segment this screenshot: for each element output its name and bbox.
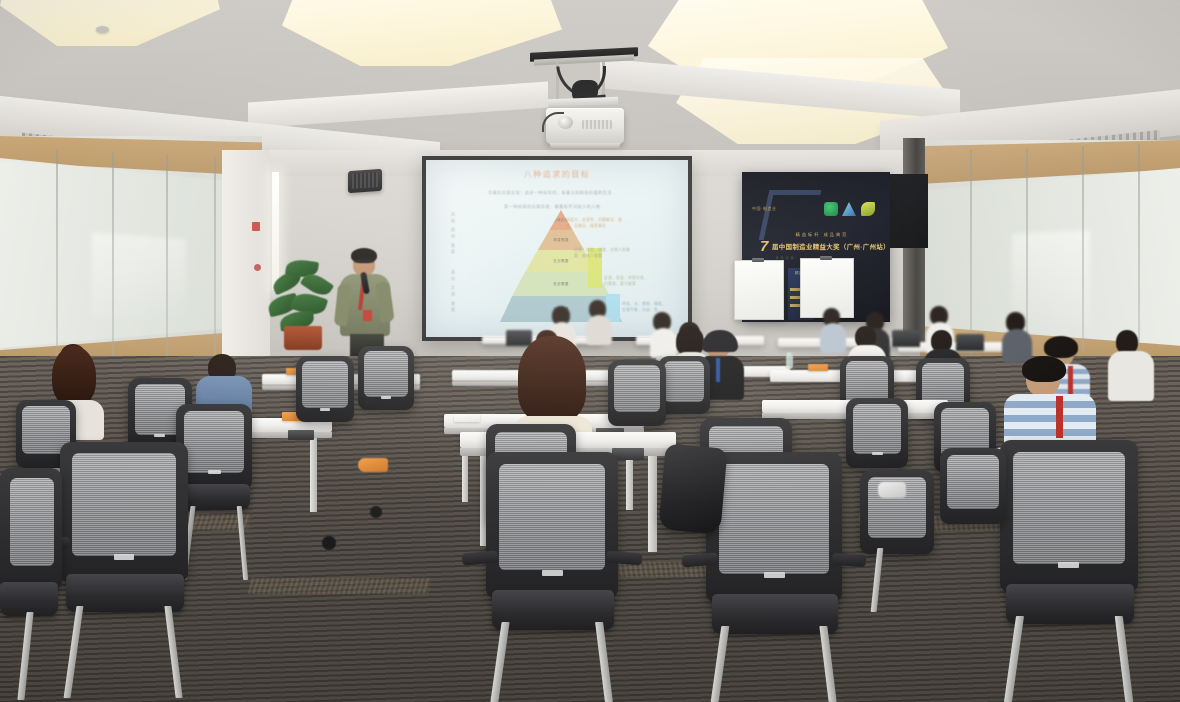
chair-logo-icon: [154, 434, 165, 437]
mullion-r3: [1082, 146, 1084, 352]
flipchart-right-clip-icon: [820, 256, 832, 260]
white-notepad-1[interactable]: [454, 414, 480, 422]
chair-logo-icon: [542, 570, 563, 576]
chair-logo-icon: [208, 470, 221, 474]
flipchart-left-clip-icon: [752, 258, 764, 262]
pyramid-tier-4: 尊重需要: [500, 230, 622, 250]
chair-mesh-panel: [853, 404, 901, 454]
carpet-patch-2: [248, 578, 432, 594]
fire-alarm-icon: [254, 264, 261, 271]
chair-r3-5[interactable]: [846, 398, 908, 468]
chair-mesh-panel: [664, 361, 704, 402]
chair-mesh-panel: [719, 464, 829, 574]
banner-title: 届中国制造业精益大奖（广州·广州站）: [772, 242, 888, 251]
laptop-r1-3[interactable]: [956, 334, 984, 351]
glass-reflection-left: [92, 233, 186, 324]
attendee-cap-icon: [702, 330, 738, 352]
attendee-hair: [1044, 336, 1078, 358]
banner-small-text: 中国·制造业: [752, 206, 776, 212]
attendee-long-hair: [518, 336, 586, 422]
banner-kicker: 精益标杆 成品典范: [762, 232, 882, 238]
mullion-l1: [56, 150, 58, 358]
mullion-r1: [970, 150, 972, 356]
glass-reflection-right: [1012, 230, 1090, 330]
attendee-long-hair: [52, 346, 96, 406]
sponsor-logo-green-icon: [824, 202, 838, 216]
presenter-badge: [363, 310, 372, 321]
attendee-torso: [1002, 329, 1032, 363]
sponsor-logo-yellow-icon: [861, 202, 875, 216]
pyramid-note-5: 创造力、自发性、问题解决、道德、无偏见、接受事实: [566, 218, 624, 229]
attendee-shoe-2: [878, 482, 906, 498]
attendee-lanyard-icon: [716, 358, 720, 382]
chair-logo-icon: [114, 554, 134, 560]
wall-column-left: [222, 150, 270, 370]
chair-side-right-2[interactable]: [940, 448, 1006, 524]
chair-mesh-panel: [1013, 452, 1125, 564]
laptop-r1-2[interactable]: [892, 330, 920, 347]
chair-caster-2: [370, 506, 382, 518]
slide-title: 八种追求的目标: [426, 169, 688, 180]
projector-lens-icon: [558, 116, 573, 129]
chair-mesh-panel: [364, 351, 408, 397]
chair-mesh-panel: [499, 464, 605, 570]
chair-front-right-arm-r: [832, 553, 867, 567]
attendee-torso: [650, 328, 677, 358]
attendee-lanyard-icon: [1056, 396, 1063, 438]
presenter-glasses-icon: [354, 259, 374, 263]
chair-mesh-panel: [947, 455, 999, 509]
projector-bracket: [548, 97, 618, 107]
potted-plant: [268, 258, 334, 348]
chair-logo-icon: [1058, 562, 1079, 568]
chair-r3-2[interactable]: [296, 356, 354, 422]
chair-r3-4[interactable]: [608, 360, 666, 426]
chair-mesh-panel: [302, 361, 348, 408]
attendee-lanyard-icon: [1068, 366, 1073, 396]
pyramid-tier-3-label: 社交需要: [553, 259, 569, 264]
mullion-r2: [1026, 148, 1028, 354]
mullion-l2: [112, 152, 114, 360]
wall-dark-panel: [884, 174, 928, 248]
projector-vent-icon: [582, 120, 612, 129]
orange-notepad-2[interactable]: [808, 364, 828, 371]
chair-mesh-panel: [184, 411, 244, 473]
slide-note-1: 完美的自我实现：追求一种充实的、有意义的和有价值的生活: [488, 190, 612, 196]
chair-front-left[interactable]: [60, 442, 188, 582]
slide-axis-label-bottom: 基本 生理 需要: [450, 270, 456, 313]
chair-front-edge-left[interactable]: [0, 468, 62, 590]
flipchart-left[interactable]: [734, 260, 784, 320]
projector-base: [550, 143, 620, 148]
chair-front-center[interactable]: [486, 452, 618, 598]
desk-cable-module-1: [288, 430, 314, 440]
chair-logo-icon: [872, 452, 883, 455]
chair-mesh-panel: [10, 478, 54, 566]
attendee-hair: [1022, 356, 1066, 382]
pyramid-tier-4-label: 尊重需要: [553, 238, 569, 243]
banner-edition-number: 7: [760, 238, 768, 255]
training-room-photo: 八种追求的目标 完美的自我实现：追求一种充实的、有意义的和有价值的生活 第一种较…: [0, 0, 1180, 702]
presenter: [336, 248, 394, 358]
attendee-torso: [1108, 351, 1154, 401]
sponsor-logo-blue-icon: [842, 202, 856, 216]
mullion-l4: [214, 156, 216, 360]
chair-front-edge-left-seat: [0, 582, 58, 616]
chair-caster-1: [322, 536, 336, 550]
ceiling-mounted-projector: [524, 24, 644, 140]
pyramid-note-4: 自尊、自信、成就、对他人的尊重、被他人尊重: [574, 248, 630, 259]
mullion-l3: [166, 154, 168, 360]
attendee-torso: [586, 315, 612, 345]
pyramid-note-3: 友谊、家庭、亲密关系、归属感、爱与被爱: [604, 276, 650, 287]
mullion-r4: [1138, 144, 1140, 350]
pyramid-tier-2-label: 安全需要: [553, 282, 569, 287]
plant-pot: [284, 326, 322, 350]
chair-mesh-panel: [614, 365, 660, 412]
chair-front-right[interactable]: [706, 452, 842, 602]
smoke-detector-icon: [96, 26, 109, 33]
wall-speaker-grille-icon: [352, 172, 378, 189]
chair-mesh-panel: [72, 453, 176, 556]
attendee-torso: [820, 323, 846, 353]
slide-axis-label-top: 高级 精神 需要: [450, 212, 456, 255]
chair-logo-icon: [320, 408, 330, 411]
chair-front-center-arm-r: [606, 551, 643, 565]
backpack[interactable]: [658, 443, 727, 534]
chair-logo-icon: [764, 572, 785, 578]
chair-front-far-right[interactable]: [1000, 440, 1138, 592]
chair-logo-icon: [381, 396, 391, 399]
water-bottle-2[interactable]: [786, 352, 793, 369]
exit-sign-icon: [252, 222, 260, 231]
desk-leg-c3: [648, 456, 657, 552]
desk-leg-l1: [310, 438, 317, 512]
chair-r3-back-left[interactable]: [358, 346, 414, 410]
laptop-r1-1[interactable]: [506, 330, 532, 346]
attendee-shoe: [358, 458, 388, 472]
